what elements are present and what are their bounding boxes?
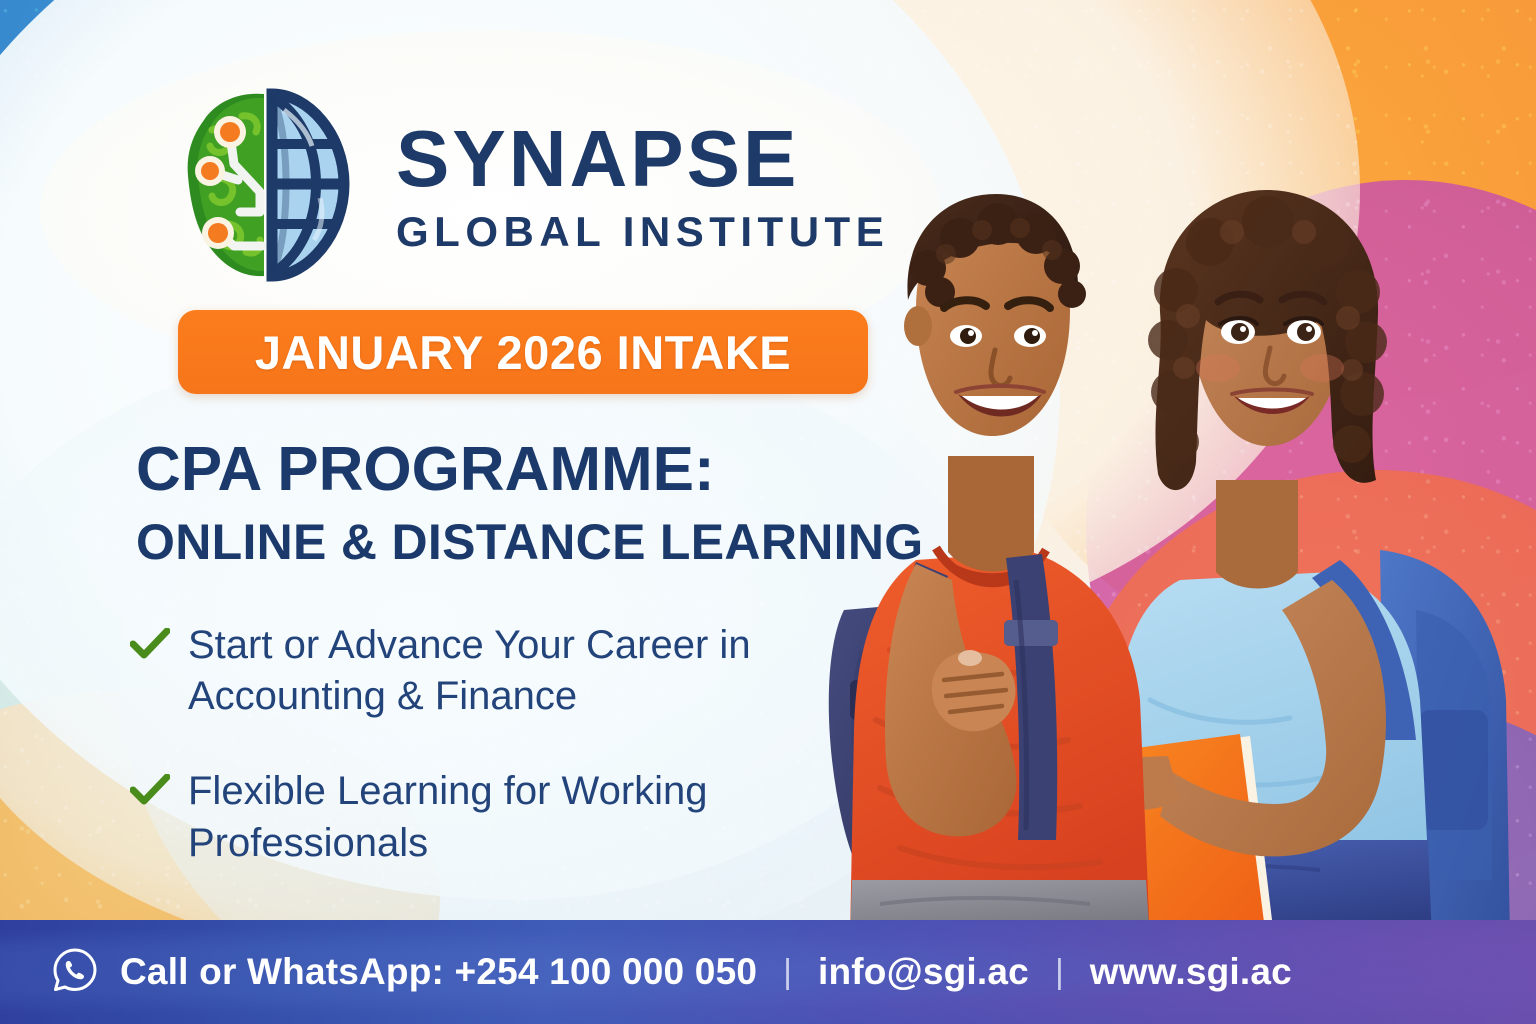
brand-subtitle: GLOBAL INSTITUTE	[396, 211, 889, 253]
two-students-illustration	[820, 180, 1536, 940]
check-icon	[130, 628, 170, 665]
intake-banner: JANUARY 2026 INTAKE	[178, 310, 868, 394]
footer-separator-2: |	[1051, 953, 1068, 992]
email-link[interactable]: info@sgi.ac	[818, 951, 1029, 993]
headline-block: CPA PROGRAMME: ONLINE & DISTANCE LEARNIN…	[136, 438, 936, 568]
brand-wordmark: SYNAPSE GLOBAL INSTITUTE	[396, 119, 889, 253]
poster-canvas: SYNAPSE GLOBAL INSTITUTE JANUARY 2026 IN…	[0, 0, 1536, 1024]
brand-name: SYNAPSE	[396, 119, 889, 199]
benefits-list: Start or Advance Your Career in Accounti…	[130, 620, 860, 913]
brain-globe-logo-icon	[168, 88, 368, 283]
benefit-item: Start or Advance Your Career in Accounti…	[130, 620, 860, 722]
benefit-text: Start or Advance Your Career in Accounti…	[188, 620, 808, 722]
footer-content: Call or WhatsApp: +254 100 000 050 | inf…	[0, 947, 1292, 998]
whatsapp-icon[interactable]	[52, 947, 98, 998]
headline-line-2: ONLINE & DISTANCE LEARNING	[136, 517, 936, 568]
headline-line-1: CPA PROGRAMME:	[136, 438, 936, 501]
website-link[interactable]: www.sgi.ac	[1090, 951, 1292, 993]
male-student	[829, 194, 1150, 940]
phone-contact-label[interactable]: Call or WhatsApp: +254 100 000 050	[120, 951, 757, 993]
check-icon	[130, 774, 170, 811]
benefit-item: Flexible Learning for Working Profession…	[130, 766, 860, 868]
footer-separator-1: |	[779, 953, 796, 992]
benefit-text: Flexible Learning for Working Profession…	[188, 766, 808, 868]
intake-banner-label: JANUARY 2026 INTAKE	[255, 325, 791, 380]
brand-logo-lockup: SYNAPSE GLOBAL INSTITUTE	[168, 88, 889, 283]
contact-footer-bar: Call or WhatsApp: +254 100 000 050 | inf…	[0, 920, 1536, 1024]
